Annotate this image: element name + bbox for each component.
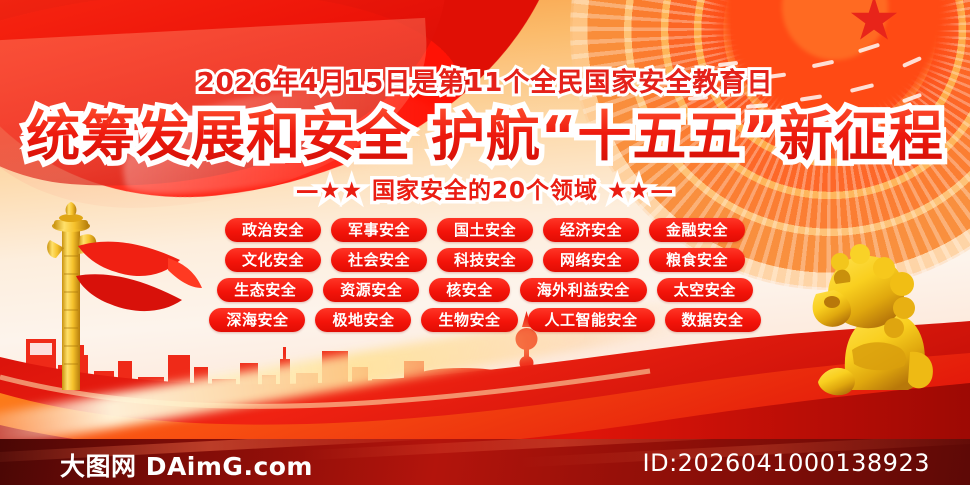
- security-domain-pill[interactable]: 核安全: [429, 278, 510, 302]
- security-domain-pill[interactable]: 资源安全: [323, 278, 419, 302]
- security-domain-pill[interactable]: 文化安全: [225, 248, 321, 272]
- site-watermark: 大图网 DAimG.com: [60, 447, 313, 483]
- poster-title-fill: 统筹发展和安全 护航“十五五”新征程: [0, 104, 970, 170]
- security-domain-row: 深海安全极地安全生物安全人工智能安全数据安全: [209, 308, 760, 332]
- poster-tagline-fill: —★★ 国家安全的20个领域 ★★—: [0, 176, 970, 206]
- security-domain-pill[interactable]: 太空安全: [657, 278, 753, 302]
- poster-canvas: 2026年4月15日是第11个全民国家安全教育日 2026年4月15日是第11个…: [0, 0, 970, 485]
- security-domain-pill[interactable]: 金融安全: [649, 218, 745, 242]
- footer-bar: 大图网 DAimG.com ID:2026041000138923: [0, 439, 970, 485]
- security-domain-pill[interactable]: 军事安全: [331, 218, 427, 242]
- security-domain-pill[interactable]: 生物安全: [421, 308, 517, 332]
- security-domain-pill[interactable]: 经济安全: [543, 218, 639, 242]
- security-domain-pill[interactable]: 海外利益安全: [520, 278, 647, 302]
- image-id-label: ID:2026041000138923: [643, 449, 930, 477]
- security-domain-pill[interactable]: 粮食安全: [649, 248, 745, 272]
- security-domain-row: 政治安全军事安全国土安全经济安全金融安全: [225, 218, 745, 242]
- security-domain-pill[interactable]: 网络安全: [543, 248, 639, 272]
- poster-tagline: —★★ 国家安全的20个领域 ★★— —★★ 国家安全的20个领域 ★★—: [0, 176, 970, 206]
- security-domain-row: 文化安全社会安全科技安全网络安全粮食安全: [225, 248, 745, 272]
- security-domain-pill[interactable]: 政治安全: [225, 218, 321, 242]
- security-domain-pill[interactable]: 人工智能安全: [528, 308, 655, 332]
- poster-title: 统筹发展和安全 护航“十五五”新征程 统筹发展和安全 护航“十五五”新征程: [0, 104, 970, 170]
- security-domain-pill[interactable]: 深海安全: [209, 308, 305, 332]
- security-domain-pill[interactable]: 社会安全: [331, 248, 427, 272]
- event-subtitle: 2026年4月15日是第11个全民国家安全教育日: [0, 62, 970, 99]
- security-domain-pill[interactable]: 极地安全: [315, 308, 411, 332]
- security-domain-row: 生态安全资源安全核安全海外利益安全太空安全: [217, 278, 753, 302]
- security-domain-pill[interactable]: 生态安全: [217, 278, 313, 302]
- security-domain-pill[interactable]: 国土安全: [437, 218, 533, 242]
- security-domain-grid: 政治安全军事安全国土安全经济安全金融安全文化安全社会安全科技安全网络安全粮食安全…: [0, 218, 970, 332]
- security-domain-pill[interactable]: 科技安全: [437, 248, 533, 272]
- security-domain-pill[interactable]: 数据安全: [665, 308, 761, 332]
